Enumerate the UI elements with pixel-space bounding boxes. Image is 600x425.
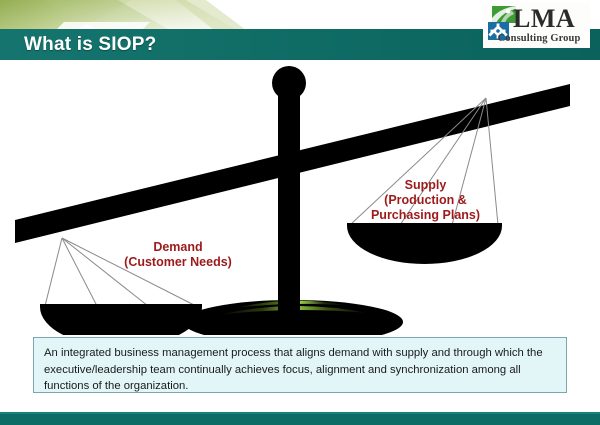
slide: What is SIOP? LMA Consulting Group	[0, 0, 600, 425]
scale-icon	[0, 60, 600, 335]
page-title: What is SIOP?	[24, 31, 156, 58]
caption-text: An integrated business management proces…	[44, 345, 556, 395]
supply-label: Supply (Production & Purchasing Plans)	[358, 178, 493, 223]
demand-label: Demand (Customer Needs)	[98, 240, 258, 270]
logo-name: LMA	[513, 5, 575, 33]
caption-box: An integrated business management proces…	[33, 337, 567, 393]
bottom-accent-highlight	[0, 412, 600, 414]
corner-decoration	[0, 0, 340, 30]
chevron-art-icon	[0, 0, 340, 30]
logo-tagline: Consulting Group	[490, 33, 588, 44]
balance-scale-diagram	[0, 60, 600, 335]
logo: LMA Consulting Group	[483, 3, 590, 48]
bottom-accent-bar	[0, 412, 600, 425]
